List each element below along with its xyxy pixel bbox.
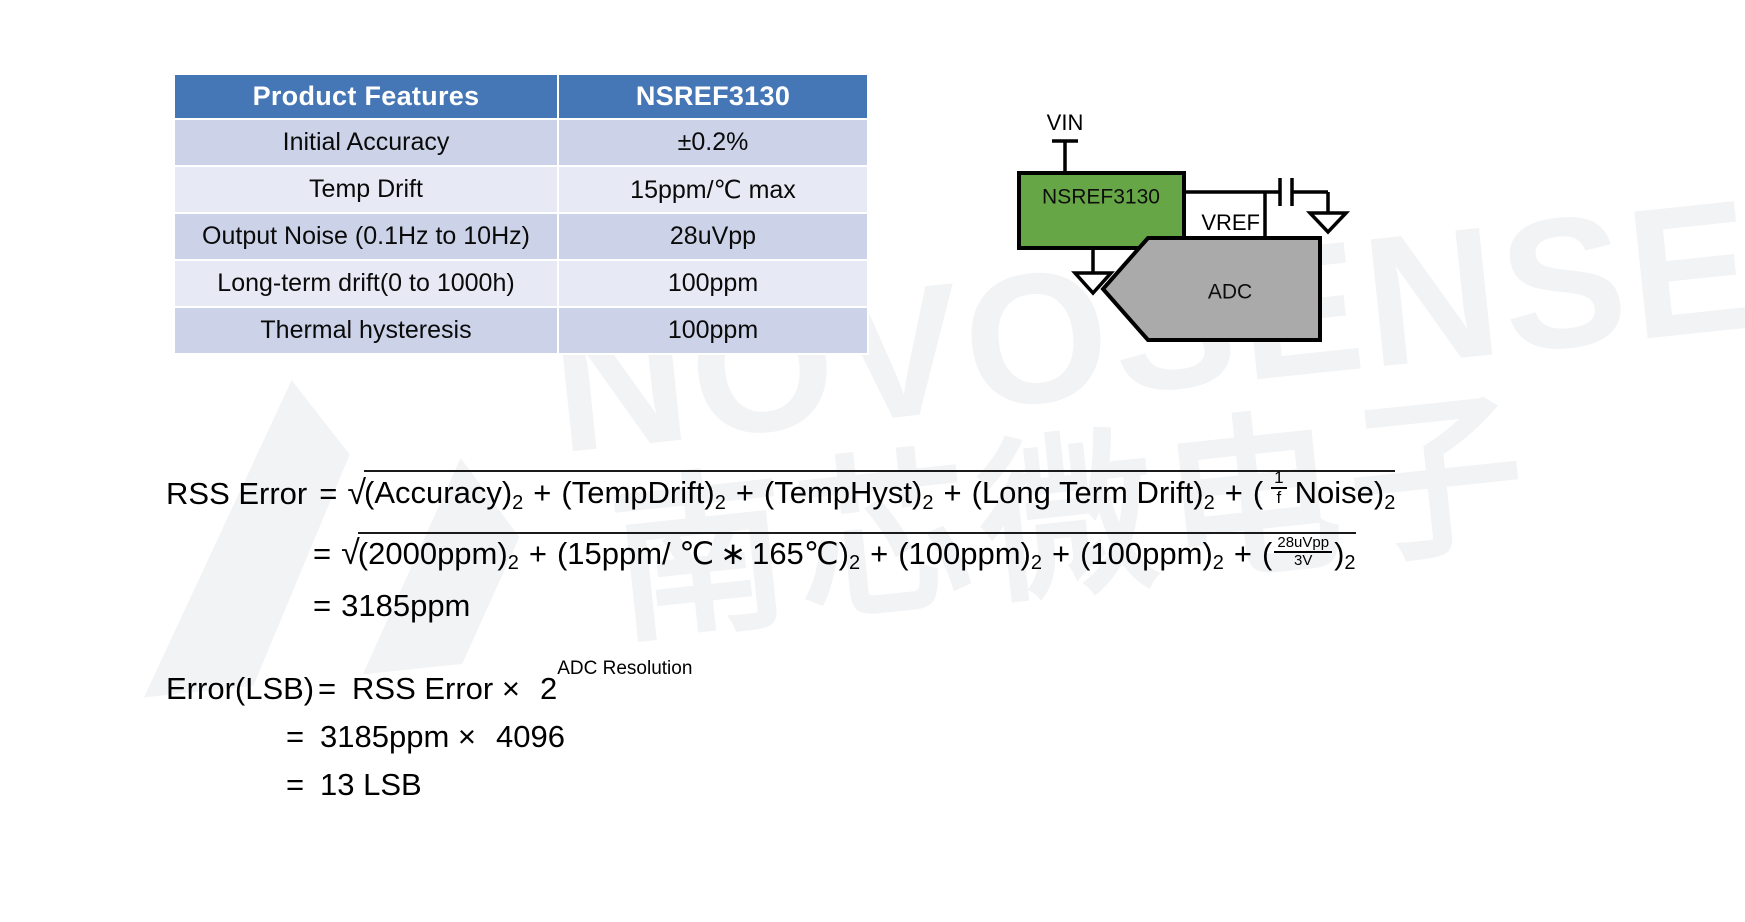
rss-equals-sign: = [307, 478, 347, 512]
rss-error-label: RSS Error [166, 478, 307, 512]
noise-close-paren: ) [1334, 536, 1344, 573]
feature-value-temp-drift: 15ppm/℃ max [558, 166, 868, 213]
value-temp-range: 165℃) [752, 536, 849, 573]
feature-value-initial-accuracy: ±0.2% [558, 119, 868, 166]
rss-result-row: = 3185ppm [166, 590, 1626, 624]
table-row: Temp Drift 15ppm/℃ max [174, 166, 868, 213]
table-header-product-features: Product Features [174, 74, 558, 119]
substituted-equals-sign: = [301, 538, 341, 572]
feature-name-long-term-drift: Long-term drift(0 to 1000h) [174, 260, 558, 307]
one-over-f-fraction: 1f [1271, 469, 1286, 507]
substituted-radicand: (2000ppm)2+(15ppm/ ℃∗165℃)2+(100ppm)2+(1… [358, 532, 1356, 573]
product-features-table: Product Features NSREF3130 Initial Accur… [173, 73, 869, 355]
plus-1: + [533, 475, 551, 512]
table-header-row: Product Features NSREF3130 [174, 74, 868, 119]
vin-label: VIN [1047, 110, 1084, 135]
nsref3130-block-label: NSREF3130 [1042, 186, 1160, 209]
plus-4: + [1234, 536, 1252, 573]
lsb-power-base: 2 [540, 673, 557, 704]
term-temp-drift: (TempDrift) [561, 475, 714, 512]
table-row: Initial Accuracy ±0.2% [174, 119, 868, 166]
one-over-f-denominator: f [1271, 487, 1286, 507]
rss-substituted-equation-row: = √ (2000ppm)2+(15ppm/ ℃∗165℃)2+(100ppm)… [166, 532, 1626, 573]
lsb-equals-sign-1: = [318, 673, 352, 704]
feature-value-output-noise: 28uVpp [558, 213, 868, 260]
rss-error-equation-row: RSS Error = √ (Accuracy)2+(TempDrift)2+(… [166, 470, 1626, 512]
plus-4: + [1225, 475, 1243, 512]
lsb-equals-sign-3: = [286, 769, 320, 800]
value-long-term-drift: (100ppm) [1080, 536, 1213, 573]
plus-3: + [1052, 536, 1070, 573]
error-lsb-label: Error(LSB) [166, 673, 318, 704]
plus-2: + [870, 536, 888, 573]
term-accuracy: (Accuracy) [364, 475, 512, 512]
result-equals-sign: = [301, 590, 341, 624]
feature-value-long-term-drift: 100ppm [558, 260, 868, 307]
feature-name-initial-accuracy: Initial Accuracy [174, 119, 558, 166]
one-over-f-numerator: 1 [1271, 469, 1286, 487]
rss-radicand: (Accuracy)2+(TempDrift)2+(TempHyst)2+(Lo… [364, 470, 1395, 512]
vref-label: VREF [1201, 210, 1260, 235]
value-temp-drift: (15ppm/ ℃ [557, 536, 714, 573]
table-row: Output Noise (0.1Hz to 10Hz) 28uVpp [174, 213, 868, 260]
feature-name-temp-drift: Temp Drift [174, 166, 558, 213]
lsb-rss-value: 3185ppm × [320, 721, 476, 752]
noise-numerator: 28uVpp [1274, 535, 1332, 551]
term-temp-hyst: (TempHyst) [764, 475, 922, 512]
lsb-equation-row-1: Error(LSB) = RSS Error × 2 ADC Resolutio… [166, 673, 1066, 704]
multiply-sign: ∗ [720, 536, 746, 573]
lsb-error-equation-block: Error(LSB) = RSS Error × 2 ADC Resolutio… [166, 673, 1066, 800]
rss-error-equation-block: RSS Error = √ (Accuracy)2+(TempDrift)2+(… [166, 470, 1626, 624]
feature-name-output-noise: Output Noise (0.1Hz to 10Hz) [174, 213, 558, 260]
plus-3: + [944, 475, 962, 512]
noise-open-paren: ( [1253, 475, 1263, 512]
term-long-term-drift: (Long Term Drift) [972, 475, 1204, 512]
plus-1: + [529, 536, 547, 573]
rss-radical: √ (Accuracy)2+(TempDrift)2+(TempHyst)2+(… [347, 470, 1395, 512]
lsb-expression: RSS Error × [352, 673, 520, 704]
noise-over-vref-fraction: 28uVpp3V [1274, 535, 1332, 569]
table-header-nsref3130: NSREF3130 [558, 74, 868, 119]
value-temp-hyst: (100ppm) [898, 536, 1031, 573]
noise-open-paren: ( [1262, 536, 1272, 573]
circuit-diagram: VIN NSREF3130 VREF ADC [990, 95, 1410, 375]
lsb-equation-row-2: = 3185ppm × 4096 [166, 721, 1066, 752]
noise-denominator: 3V [1274, 551, 1332, 569]
rss-result-value: 3185ppm [341, 590, 470, 624]
lsb-resolution-factor: 4096 [496, 721, 565, 752]
cap-ground-symbol [1310, 213, 1346, 232]
table-row: Long-term drift(0 to 1000h) 100ppm [174, 260, 868, 307]
feature-name-thermal-hysteresis: Thermal hysteresis [174, 307, 558, 354]
feature-value-thermal-hysteresis: 100ppm [558, 307, 868, 354]
adc-block-label: ADC [1208, 281, 1252, 304]
lsb-equals-sign-2: = [286, 721, 320, 752]
table-row: Thermal hysteresis 100ppm [174, 307, 868, 354]
lsb-power-exponent: ADC Resolution [557, 659, 692, 678]
lsb-equation-row-3: = 13 LSB [166, 769, 1066, 800]
plus-2: + [736, 475, 754, 512]
term-noise: Noise) [1295, 475, 1385, 512]
value-accuracy: (2000ppm) [358, 536, 508, 573]
lsb-final-value: 13 LSB [320, 769, 422, 800]
substituted-radical: √ (2000ppm)2+(15ppm/ ℃∗165℃)2+(100ppm)2+… [341, 532, 1355, 573]
